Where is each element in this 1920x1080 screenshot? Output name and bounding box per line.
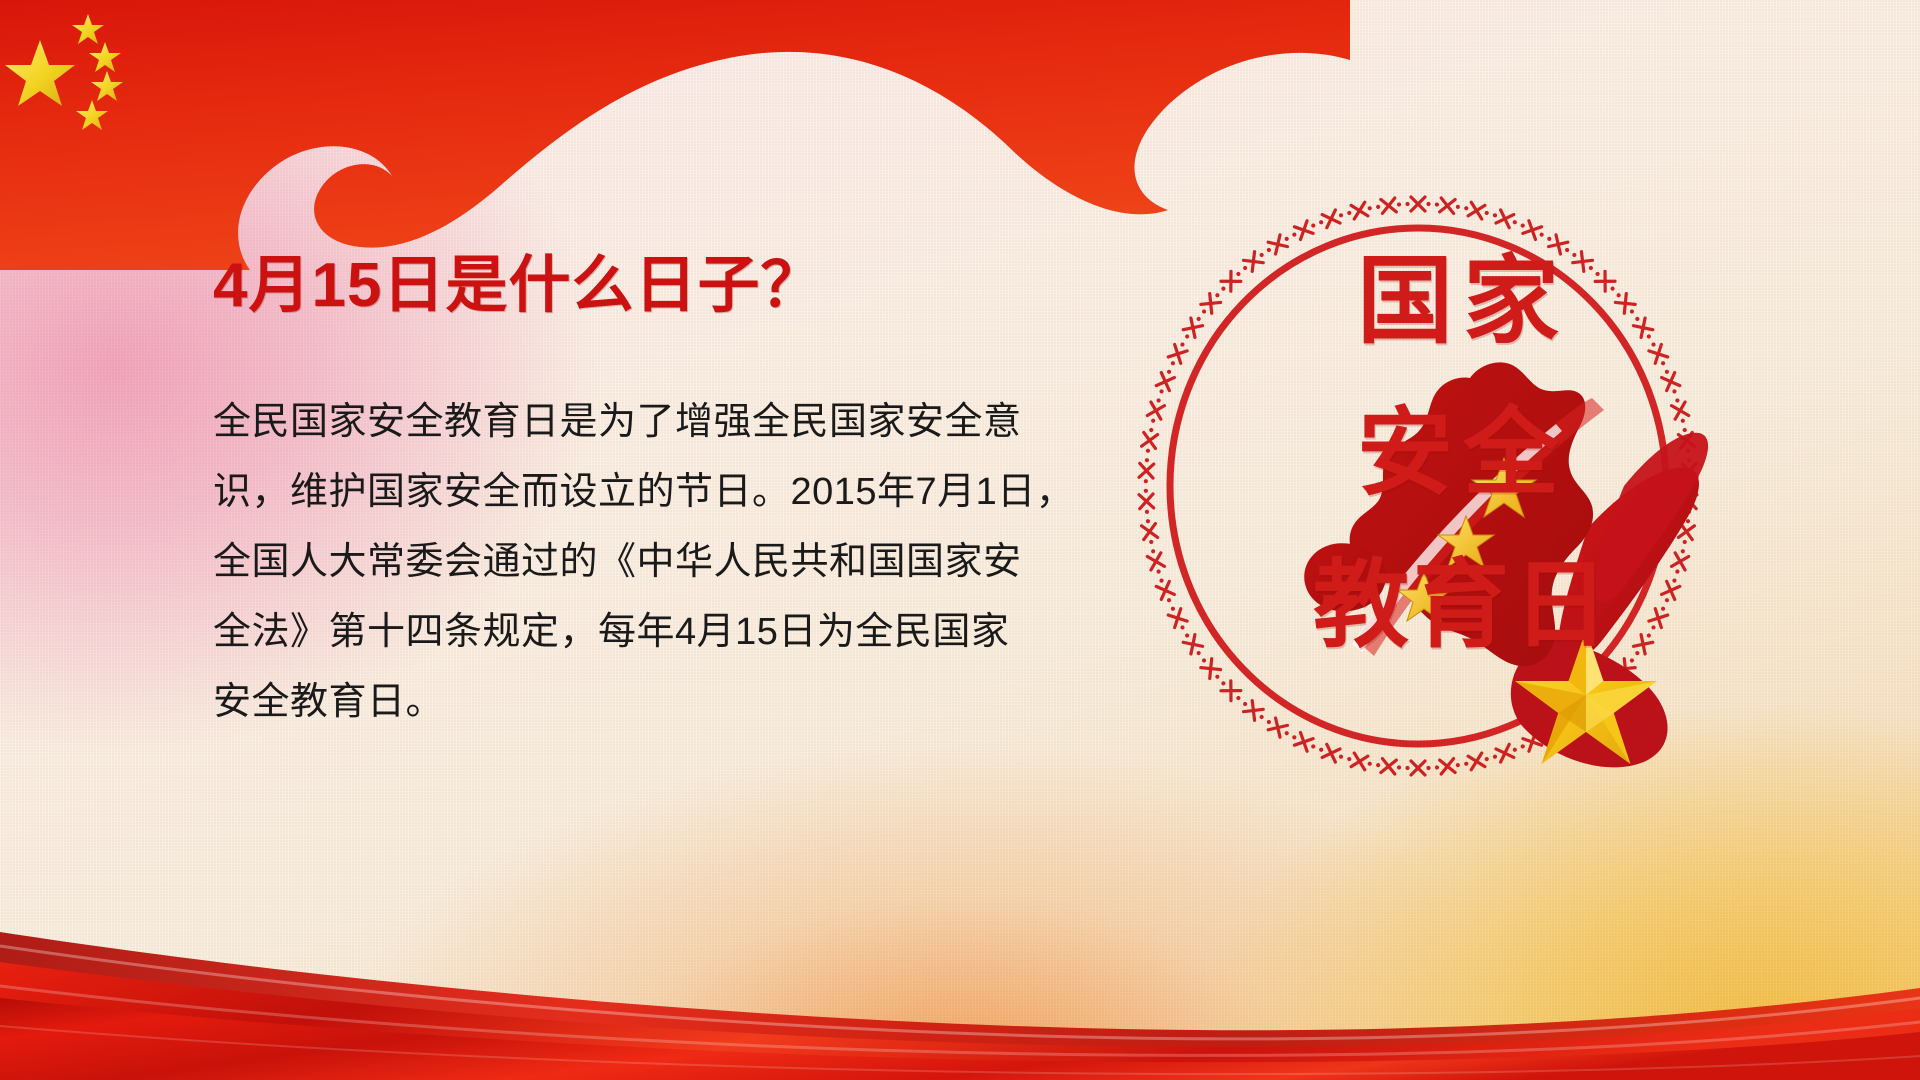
emblem-text-line-1: 国家: [1278, 226, 1648, 378]
body-line: 全法》第十四条规定，每年4月15日为全民国家: [213, 597, 1113, 667]
emblem-text-line-3: 教育日: [1278, 530, 1648, 682]
emblem-text-line-2: 安全: [1278, 378, 1648, 530]
emblem-text-block: 国家 安全 教育日: [1278, 226, 1648, 682]
bottom-ribbon-decoration: [0, 900, 1920, 1080]
body-line: 全国人大常委会通过的《中华人民共和国国家安: [213, 527, 1113, 597]
text-content-block: 4月15日是什么日子？ 全民国家安全教育日是为了增强全民国家安全意 识，维护国家…: [213, 255, 1113, 737]
slide-canvas: 4月15日是什么日子？ 全民国家安全教育日是为了增强全民国家安全意 识，维护国家…: [0, 0, 1920, 1080]
national-security-education-day-emblem: 国家 安全 教育日: [1118, 168, 1818, 828]
body-line: 识，维护国家安全而设立的节日。2015年7月1日，: [213, 457, 1113, 527]
body-paragraph: 全民国家安全教育日是为了增强全民国家安全意 识，维护国家安全而设立的节日。201…: [213, 387, 1113, 737]
body-line: 全民国家安全教育日是为了增强全民国家安全意: [213, 387, 1113, 457]
page-title: 4月15日是什么日子？: [213, 255, 1113, 317]
body-line: 安全教育日。: [213, 667, 1113, 737]
